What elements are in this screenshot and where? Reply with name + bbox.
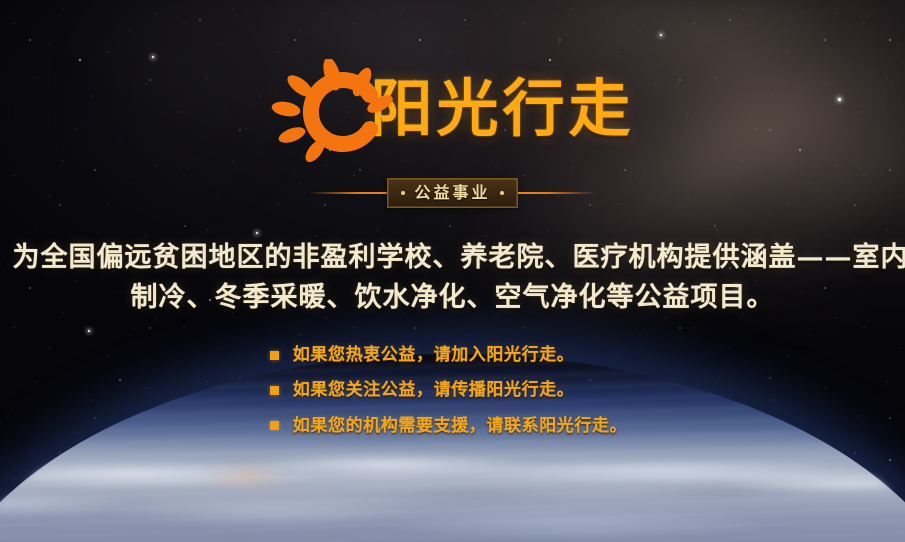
bullet-square-icon <box>270 351 279 360</box>
bullet-square-icon <box>270 421 279 430</box>
list-item-label: 如果您的机构需要支援，请联系阳光行走。 <box>293 416 627 436</box>
list-item: 如果您的机构需要支援，请联系阳光行走。 <box>270 416 627 436</box>
hero-banner: 阳光行走 公益事业 为全国偏远贫困地区的非盈利学校、养老院、医疗机构提供涵盖——… <box>0 0 905 542</box>
badge-row: 公益事业 <box>0 178 905 208</box>
brand-title: 阳光行走 <box>370 78 634 144</box>
list-item-label: 如果您关注公益，请传播阳光行走。 <box>293 380 575 400</box>
divider-line-left <box>309 192 387 194</box>
list-item: 如果您热衷公益，请加入阳光行走。 <box>270 345 627 365</box>
badge-dot-right-icon <box>500 191 504 195</box>
list-item: 如果您关注公益，请传播阳光行走。 <box>270 380 627 400</box>
call-to-action-list: 如果您热衷公益，请加入阳光行走。 如果您关注公益，请传播阳光行走。 如果您的机构… <box>270 345 627 436</box>
logo-lockup[interactable]: 阳光行走 <box>270 58 634 164</box>
bullet-square-icon <box>270 386 279 395</box>
badge-label: 公益事业 <box>414 183 490 202</box>
description-text: 为全国偏远贫困地区的非盈利学校、养老院、医疗机构提供涵盖——室内 制冷、冬季采暖… <box>13 238 893 317</box>
list-item-label: 如果您热衷公益，请加入阳光行走。 <box>293 345 575 365</box>
status-badge: 公益事业 <box>387 178 517 208</box>
divider-line-right <box>518 192 596 194</box>
banner-content: 阳光行走 公益事业 为全国偏远贫困地区的非盈利学校、养老院、医疗机构提供涵盖——… <box>0 0 905 542</box>
description-line-2: 制冷、冬季采暖、饮水净化、空气净化等公益项目。 <box>13 278 893 317</box>
description-line-1: 为全国偏远贫困地区的非盈利学校、养老院、医疗机构提供涵盖——室内 <box>13 238 893 277</box>
sun-icon <box>270 59 394 163</box>
badge-dot-left-icon <box>401 191 405 195</box>
